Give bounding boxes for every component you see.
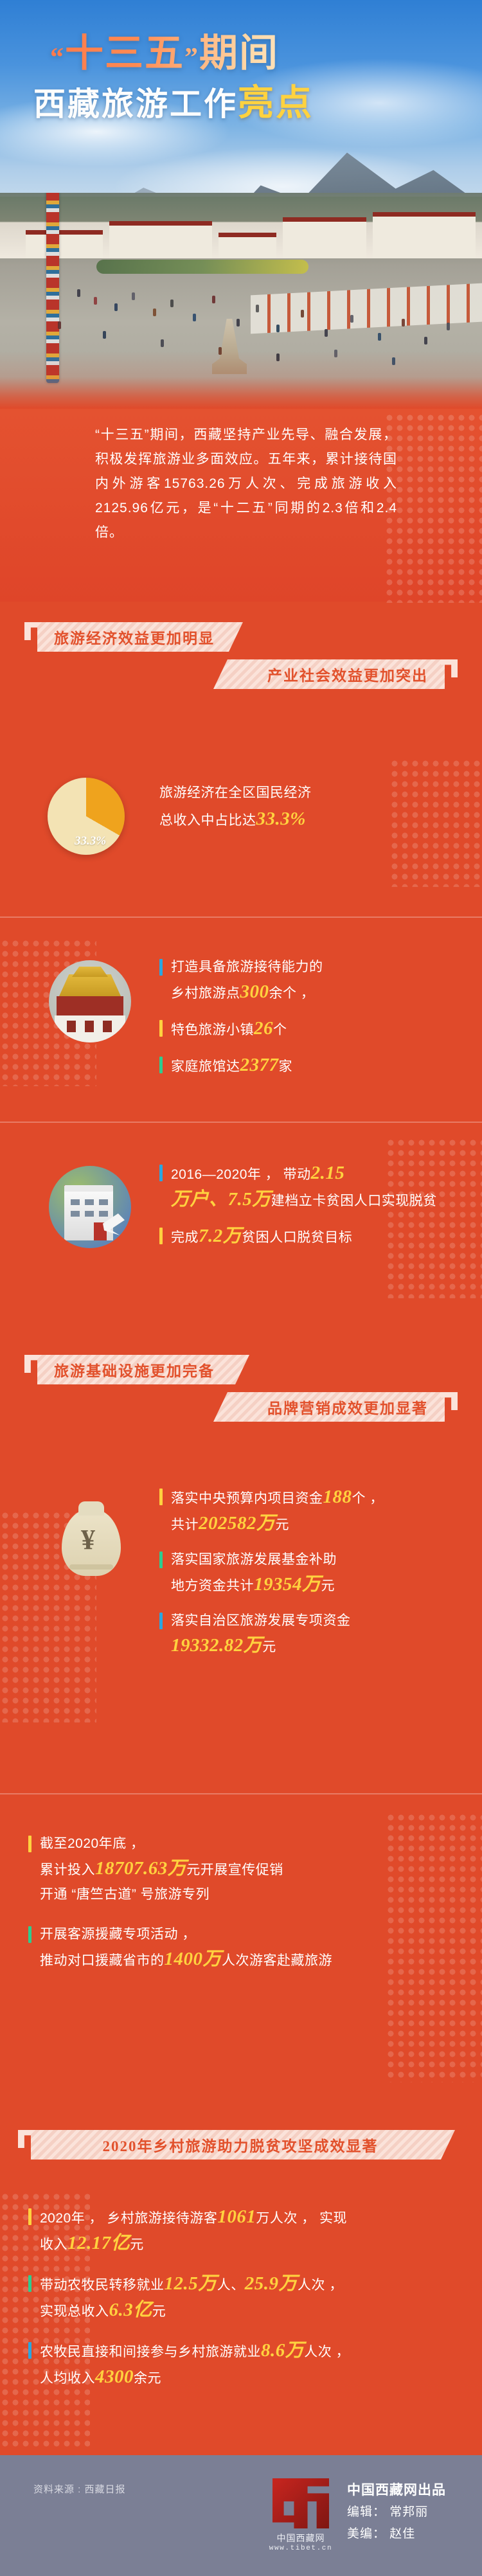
item-value: 18707.63万: [95, 1858, 186, 1879]
item-line2-pre: 人均收入: [40, 2371, 95, 2386]
section-banner-2-label: 产业社会效益更加突出: [267, 663, 428, 685]
section-banner-1-label: 旅游经济效益更加明显: [54, 626, 215, 648]
bullet-bar: [28, 1836, 31, 1852]
item-line2-pre: 推动对口援藏省市的: [40, 1953, 165, 1968]
garden-strip: [96, 260, 308, 274]
list-item: 特色旅游小镇26个: [159, 1016, 449, 1042]
pie-caption-value: 33.3%: [256, 809, 306, 829]
title-quote-close: ”: [184, 43, 199, 73]
item-value3: 6.3亿: [109, 2300, 152, 2320]
item-value2: 12.17亿: [67, 2233, 130, 2253]
list-item: 截至2020年底 ， 累计投入18707.63万元开展宣传促销 开通 “唐竺古道…: [28, 1832, 440, 1907]
banner-group-3: 2020年乡村旅游助力脱贫攻坚成效显著: [0, 2121, 482, 2172]
item-line2-pre: 地方资金共计: [171, 1579, 254, 1593]
title-line2-main: 西藏旅游工作: [33, 86, 238, 122]
rural-points-list: 打造具备旅游接待能力的 乡村旅游点300余个 ， 特色旅游小镇26个 家庭旅馆达…: [159, 955, 449, 1089]
bullet-bar: [28, 2342, 31, 2359]
item-mid: 人、: [217, 2278, 245, 2293]
bullet-bar: [159, 1057, 163, 1073]
pie-caption: 旅游经济在全区国民经济 总收入中占比达33.3%: [159, 780, 442, 834]
item-text-post: 贫困人口脱贫目标: [242, 1230, 352, 1245]
item-text-post: 个: [273, 1023, 287, 1037]
item-text-post: 元: [321, 1579, 335, 1593]
building-row: [0, 197, 482, 258]
intro-paragraph: “十三五”期间，西藏坚持产业先导、融合发展，积极发挥旅游业多面效应。五年来，累计…: [95, 423, 397, 545]
item-value: 1061: [217, 2206, 256, 2227]
list-item: 落实国家旅游发展基金补助 地方资金共计19354万元: [159, 1548, 449, 1598]
funding-block: ¥ 落实中央预算内项目资金188个 ， 共计202582万元 落实国家旅游发展基…: [0, 1472, 482, 1722]
item-text-post: 余元: [134, 2371, 161, 2386]
editor-credit: 编辑： 常邦丽: [347, 2501, 446, 2523]
footer: 资料来源 : 西藏日报 中国西藏网 www.tibet.cn 中国西藏网出品 编…: [0, 2455, 482, 2576]
section-banner-2: 产业社会效益更加突出: [213, 659, 445, 689]
item-text-post: 家: [279, 1059, 293, 1074]
intro-section: “十三五”期间，西藏坚持产业先导、融合发展，积极发挥旅游业多面效应。五年来，累计…: [0, 409, 482, 602]
item-mid: 人次 ，: [304, 2345, 350, 2359]
credits-group: 中国西藏网出品 编辑： 常邦丽 美编： 赵佳: [347, 2480, 446, 2545]
title-suffix: 期间: [199, 32, 279, 75]
item-value: 8.6万: [261, 2340, 304, 2361]
item-value: 188: [323, 1487, 352, 1507]
item-text-pre2: 乡村旅游点: [171, 986, 240, 1001]
pie-slice-label: 33.3%: [75, 834, 106, 848]
item-value: 2.15: [311, 1163, 345, 1183]
item-text-post: 余个 ，: [269, 986, 315, 1001]
title-main-text: 十三五: [65, 32, 184, 75]
pie-caption-line2: 总收入中占比达: [159, 813, 256, 828]
section-banner-5-label: 2020年乡村旅游助力脱贫攻坚成效显著: [103, 2134, 379, 2156]
item-value2: 25.9万: [245, 2273, 298, 2294]
item-line3: 开通 “唐竺古道” 号旅游专列: [40, 1887, 210, 1902]
bullet-bar: [159, 1228, 163, 1244]
list-item: 2016—2020年 ， 带动2.15 万户、7.5万建档立卡贫困人口实现脱贫: [159, 1161, 449, 1213]
item-text-post: 元: [262, 1640, 276, 1654]
item-text-pre: 2020年 ， 乡村旅游接待游客: [40, 2211, 217, 2226]
bullet-bar: [28, 1926, 31, 1943]
list-item: 带动农牧民转移就业12.5万人、25.9万人次 ， 实现总收入6.3亿元: [28, 2271, 452, 2324]
item-value: 26: [254, 1018, 273, 1039]
money-bag-icon: ¥: [55, 1495, 126, 1579]
bullet-bar: [159, 1489, 163, 1505]
tibet-net-logo: 中国西藏网 www.tibet.cn: [269, 2478, 333, 2552]
item-value2: 4300: [95, 2366, 134, 2387]
hero-gradient-fade: [0, 351, 482, 409]
rural-tourism-block: 打造具备旅游接待能力的 乡村旅游点300余个 ， 特色旅游小镇26个 家庭旅馆达…: [0, 932, 482, 1093]
list-item: 打造具备旅游接待能力的 乡村旅游点300余个 ，: [159, 955, 449, 1006]
item-value: 12.5万: [165, 2273, 217, 2294]
hero-title-group: “十三五”期间 西藏旅游工作亮点: [0, 33, 482, 122]
item-text-pre: 打造具备旅游接待能力的: [171, 960, 323, 974]
title-quote-open: “: [50, 43, 65, 73]
item-mid: 个 ，: [352, 1491, 384, 1506]
item-line2-post: 元开展宣传促销: [186, 1863, 283, 1877]
section-banner-4: 品牌营销成效更加显著: [213, 1392, 445, 1422]
item-value2: 202582万: [199, 1513, 276, 1534]
item-line1: 截至2020年底 ，: [40, 1836, 145, 1851]
section-divider: [0, 1122, 482, 1123]
item-value: 1400万: [165, 1949, 222, 1969]
section-banner-3-label: 旅游基础设施更加完备: [54, 1359, 215, 1381]
produced-by: 中国西藏网出品: [347, 2480, 446, 2501]
item-text-post: 元: [152, 2304, 166, 2319]
item-line2-pre: 收入: [40, 2237, 67, 2252]
item-text-pre: 落实国家旅游发展基金补助: [171, 1552, 337, 1567]
page-title-line2: 西藏旅游工作亮点: [0, 85, 482, 122]
banner-group-2: 旅游基础设施更加完备 品牌营销成效更加显著: [0, 1343, 482, 1440]
item-line2-post: 人次游客赴藏旅游: [222, 1953, 332, 1968]
item-text-pre: 农牧民直接和间接参与乡村旅游就业: [40, 2345, 261, 2359]
bullet-bar: [28, 2275, 31, 2292]
item-text-pre: 完成: [171, 1230, 199, 1245]
section-banner-4-label: 品牌营销成效更加显著: [267, 1396, 428, 1418]
bullet-bar: [159, 1020, 163, 1037]
pie-chart-block: 33.3% 旅游经济在全区国民经济 总收入中占比达33.3%: [0, 765, 482, 887]
designer-credit: 美编： 赵佳: [347, 2523, 446, 2545]
section-banner-1: 旅游经济效益更加明显: [37, 622, 243, 652]
poverty-alleviation-block: 2016—2020年 ， 带动2.15 万户、7.5万建档立卡贫困人口实现脱贫 …: [0, 1138, 482, 1298]
bullet-bar: [159, 959, 163, 976]
rural-2020-list: 2020年 ， 乡村旅游接待游客1061万人次 ， 实现 收入12.17亿元 带…: [28, 2205, 452, 2401]
item-value: 7.2万: [199, 1226, 242, 1246]
item-line2-pre: 累计投入: [40, 1863, 95, 1877]
section-divider: [0, 917, 482, 918]
item-value: 2377: [240, 1055, 279, 1075]
item-value: 19332.82万: [171, 1635, 262, 1656]
list-item: 完成7.2万贫困人口脱贫目标: [159, 1224, 449, 1250]
item-text-post: 元: [130, 2237, 144, 2252]
item-text-post: 建档立卡贫困人口实现脱贫: [271, 1194, 437, 1208]
rural-2020-block: 2020年 ， 乡村旅游接待游客1061万人次 ， 实现 收入12.17亿元 带…: [0, 2192, 482, 2449]
poverty-list: 2016—2020年 ， 带动2.15 万户、7.5万建档立卡贫困人口实现脱贫 …: [159, 1161, 449, 1260]
funding-list: 落实中央预算内项目资金188个 ， 共计202582万元 落实国家旅游发展基金补…: [159, 1485, 449, 1670]
section-divider: [0, 1793, 482, 1794]
item-text-pre: 落实自治区旅游发展专项资金: [171, 1613, 351, 1628]
item-text-pre: 2016—2020年 ， 带动: [171, 1167, 311, 1182]
item-line2-pre: 实现总收入: [40, 2304, 109, 2319]
item-value: 300: [240, 981, 269, 1002]
hero-section: “十三五”期间 西藏旅游工作亮点: [0, 0, 482, 409]
item-value2: 7.5万: [228, 1189, 271, 1210]
item-value: 19354万: [254, 1574, 321, 1595]
logo-name: 中国西藏网: [269, 2532, 333, 2545]
promotion-block: 截至2020年底 ， 累计投入18707.63万元开展宣传促销 开通 “唐竺古道…: [0, 1812, 482, 2082]
item-line2-pre: 共计: [171, 1517, 199, 1532]
logo-mark-icon: [272, 2478, 329, 2528]
intro-text-wrap: “十三五”期间，西藏坚持产业先导、融合发展，积极发挥旅游业多面效应。五年来，累计…: [95, 423, 397, 545]
list-item: 落实中央预算内项目资金188个 ， 共计202582万元: [159, 1485, 449, 1537]
title-line2-highlight: 亮点: [238, 84, 314, 123]
page-title-line1: “十三五”期间: [0, 33, 482, 78]
temple-icon: [49, 960, 131, 1042]
pie-caption-line1: 旅游经济在全区国民经济: [159, 785, 312, 800]
logo-url: www.tibet.cn: [269, 2545, 333, 2552]
item-mid: 万户、: [171, 1189, 228, 1210]
item-text-post: 元: [276, 1517, 290, 1532]
item-mid: 万人次 ， 实现: [256, 2211, 347, 2226]
item-mid2: 人次 ，: [298, 2278, 343, 2293]
item-text-pre: 特色旅游小镇: [171, 1023, 254, 1037]
list-item: 落实自治区旅游发展专项资金 19332.82万元: [159, 1609, 449, 1659]
list-item: 家庭旅馆达2377家: [159, 1053, 449, 1079]
list-item: 2020年 ， 乡村旅游接待游客1061万人次 ， 实现 收入12.17亿元: [28, 2205, 452, 2257]
bullet-bar: [159, 1613, 163, 1629]
list-item: 农牧民直接和间接参与乡村旅游就业8.6万人次 ， 人均收入4300余元: [28, 2338, 452, 2391]
building-icon: [49, 1166, 131, 1248]
item-text-pre: 带动农牧民转移就业: [40, 2278, 165, 2293]
source-credit: 资料来源 : 西藏日报: [33, 2482, 126, 2496]
item-line1: 开展客源援藏专项活动 ，: [40, 1927, 196, 1942]
item-text-pre: 家庭旅馆达: [171, 1059, 240, 1074]
item-text-pre: 落实中央预算内项目资金: [171, 1491, 323, 1506]
section-banner-5: 2020年乡村旅游助力脱贫攻坚成效显著: [31, 2130, 455, 2160]
bullet-bar: [159, 1552, 163, 1568]
promotion-list: 截至2020年底 ， 累计投入18707.63万元开展宣传促销 开通 “唐竺古道…: [28, 1832, 440, 1983]
infographic-page: “十三五”期间 西藏旅游工作亮点 “十三五”期间，西藏坚持产业先导、融合发展，积…: [0, 0, 482, 2576]
section-banner-3: 旅游基础设施更加完备: [37, 1355, 249, 1384]
bullet-bar: [159, 1165, 163, 1181]
list-item: 开展客源援藏专项活动 ， 推动对口援藏省市的1400万人次游客赴藏旅游: [28, 1922, 440, 1973]
bullet-bar: [28, 2208, 31, 2225]
banner-group-1: 旅游经济效益更加明显 产业社会效益更加突出: [0, 611, 482, 707]
